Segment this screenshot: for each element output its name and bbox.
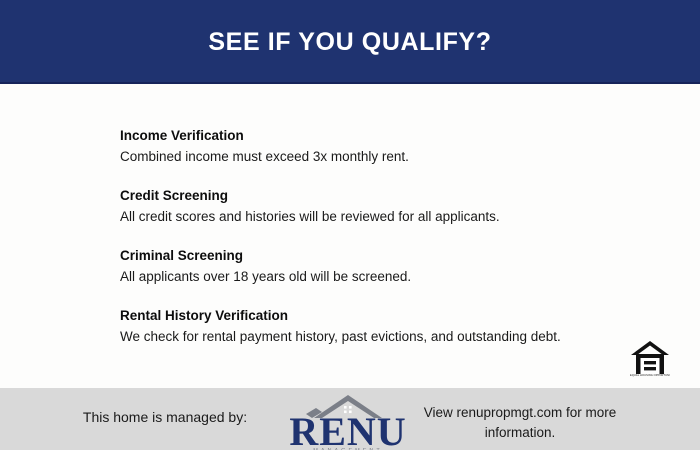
criteria-description: All applicants over 18 years old will be… — [120, 267, 620, 287]
qualification-flyer: SEE IF YOU QUALIFY? Income Verification … — [0, 0, 700, 450]
criteria-list: Income Verification Combined income must… — [120, 126, 620, 347]
criteria-description: We check for rental payment history, pas… — [120, 327, 620, 347]
renu-wordmark: RENU — [282, 412, 414, 450]
criteria-item-income-verification: Income Verification Combined income must… — [120, 126, 620, 166]
renu-management-logo: RENU MANAGEMENT — [282, 392, 414, 450]
criteria-item-rental-history-verification: Rental History Verification We check for… — [120, 306, 620, 346]
criteria-description: All credit scores and histories will be … — [120, 207, 620, 227]
criteria-item-credit-screening: Credit Screening All credit scores and h… — [120, 186, 620, 226]
managed-by-label: This home is managed by: — [60, 408, 270, 426]
equal-housing-opportunity-caption: EQUAL HOUSING OPPORTUNITY — [630, 374, 670, 377]
header-divider — [0, 82, 700, 84]
criteria-title: Income Verification — [120, 126, 620, 146]
criteria-title: Rental History Verification — [120, 306, 620, 326]
criteria-description: Combined income must exceed 3x monthly r… — [120, 147, 620, 167]
page-title: SEE IF YOU QUALIFY? — [208, 28, 491, 55]
criteria-title: Criminal Screening — [120, 246, 620, 266]
header-banner: SEE IF YOU QUALIFY? — [0, 0, 700, 82]
criteria-title: Credit Screening — [120, 186, 620, 206]
criteria-item-criminal-screening: Criminal Screening All applicants over 1… — [120, 246, 620, 286]
footer-info-text: View renupropmgt.com for more informatio… — [420, 403, 620, 442]
